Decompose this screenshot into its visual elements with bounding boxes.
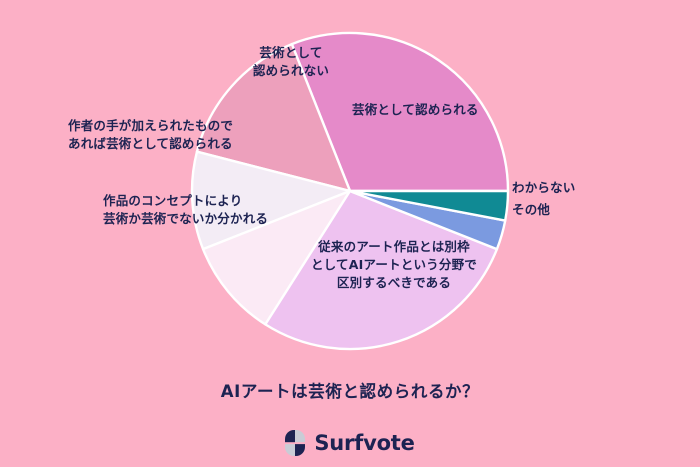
brand-name: Surfvote <box>314 433 414 454</box>
pie-label-dont-know: わからない <box>512 179 576 197</box>
pie-label-other: その他 <box>512 201 550 219</box>
surfvote-logo-icon <box>285 430 305 456</box>
pie-label-separate-genre: 従来のアート作品とは別枠 としてAIアートという分野で 区別するべきである <box>282 238 506 292</box>
pie-chart-page: 芸術として認められる 芸術として 認められない 作者の手が加えられたもので あれ… <box>0 0 700 467</box>
pie-slices-group <box>192 33 508 349</box>
pie-label-author-hand: 作者の手が加えられたもので あれば芸術として認められる <box>68 117 233 153</box>
pie-label-art-accepted: 芸術として認められる <box>352 101 479 119</box>
pie-label-art-not-accepted: 芸術として 認められない <box>226 44 356 80</box>
pie-label-concept: 作品のコンセプトにより 芸術か芸術でないか分かれる <box>103 192 268 228</box>
chart-title: AIアートは芸術と認められるか？ <box>0 378 700 402</box>
brand-lockup: Surfvote <box>0 430 700 456</box>
